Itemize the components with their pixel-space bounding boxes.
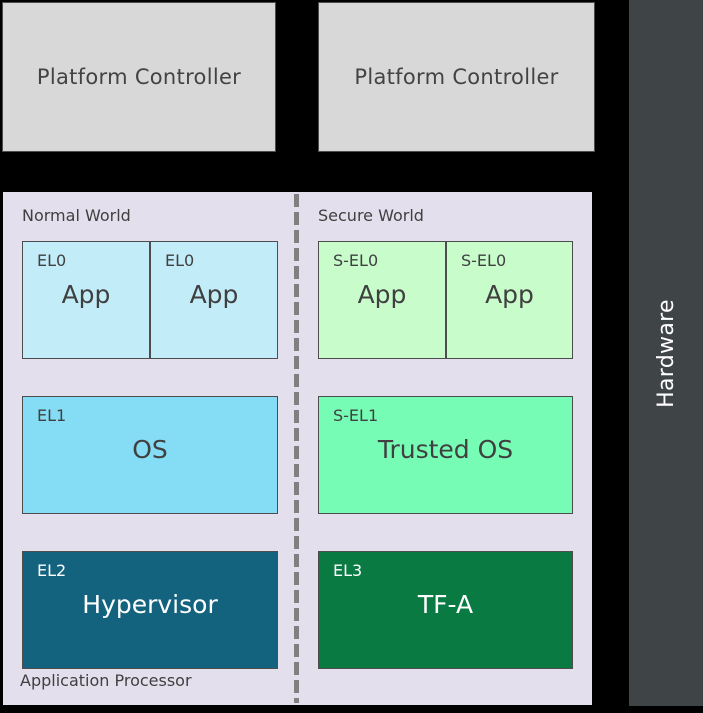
platform-controller-box-1: Platform Controller xyxy=(2,2,276,152)
el-tag: EL1 xyxy=(37,406,66,425)
box-el0-app-2: EL0 App xyxy=(150,241,278,359)
box-s-el1-trusted-os: S-EL1 Trusted OS xyxy=(318,396,573,514)
el-tag: EL0 xyxy=(165,251,194,270)
el-tag: S-EL0 xyxy=(461,251,506,270)
box-el2-hypervisor: EL2 Hypervisor xyxy=(22,551,278,669)
platform-controller-box-2: Platform Controller xyxy=(318,2,595,152)
diagram-canvas: Platform Controller Platform Controller … xyxy=(0,0,703,713)
normal-world-label: Normal World xyxy=(22,206,131,225)
platform-controller-label: Platform Controller xyxy=(354,65,558,89)
box-el3-tf-a: EL3 TF-A xyxy=(318,551,573,669)
el-tag: S-EL0 xyxy=(333,251,378,270)
box-el1-os: EL1 OS xyxy=(22,396,278,514)
world-divider xyxy=(294,194,299,703)
box-title: App xyxy=(151,280,277,309)
el-tag: S-EL1 xyxy=(333,406,378,425)
el-tag: EL0 xyxy=(37,251,66,270)
el-tag: EL2 xyxy=(37,561,66,580)
el-tag: EL3 xyxy=(333,561,362,580)
box-el0-app-1: EL0 App xyxy=(22,241,150,359)
application-processor-label: Application Processor xyxy=(20,671,192,690)
box-title: App xyxy=(319,280,445,309)
box-title: Trusted OS xyxy=(319,435,572,464)
box-title: TF-A xyxy=(319,590,572,619)
application-processor-panel: Normal World Secure World EL0 App EL0 Ap… xyxy=(3,192,592,705)
box-title: App xyxy=(23,280,149,309)
box-s-el0-app-1: S-EL0 App xyxy=(318,241,446,359)
box-title: App xyxy=(447,280,572,309)
platform-controller-label: Platform Controller xyxy=(37,65,241,89)
hardware-label: Hardware xyxy=(654,299,679,408)
box-s-el0-app-2: S-EL0 App xyxy=(446,241,573,359)
box-title: Hypervisor xyxy=(23,590,277,619)
box-title: OS xyxy=(23,435,277,464)
hardware-sidebar: Hardware xyxy=(629,0,703,706)
secure-world-label: Secure World xyxy=(318,206,424,225)
